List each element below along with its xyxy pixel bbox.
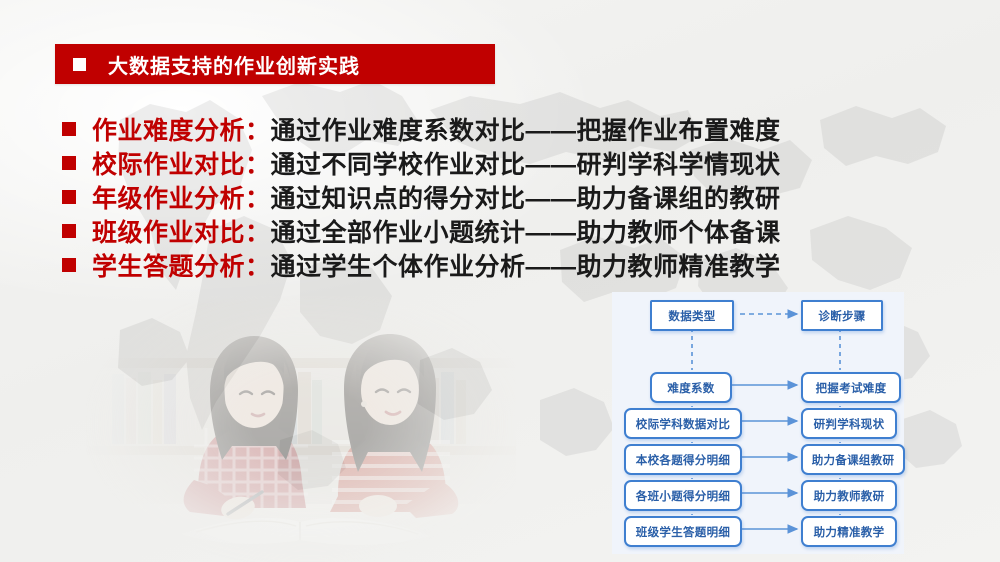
title-square-bullet-icon	[73, 58, 86, 71]
red-square-bullet-icon	[62, 156, 76, 170]
flow-node-header-right[interactable]: 诊断步骤	[801, 300, 883, 331]
students-studying-photo	[86, 296, 516, 562]
bullet-label: 班级作业对比：	[92, 213, 271, 249]
flow-node-right-5[interactable]: 助力精准教学	[801, 516, 897, 547]
list-item: 年级作业分析： 通过知识点的得分对比——助力备课组的教研	[62, 180, 952, 214]
list-item: 作业难度分析： 通过作业难度系数对比——把握作业布置难度	[62, 112, 952, 146]
page-title: 大数据支持的作业创新实践	[108, 50, 360, 79]
bullet-description: 通过知识点的得分对比——助力备课组的教研	[271, 179, 781, 215]
bullet-label: 年级作业分析：	[92, 179, 271, 215]
flow-node-left-2[interactable]: 校际学科数据对比	[624, 408, 742, 439]
bullet-list: 作业难度分析： 通过作业难度系数对比——把握作业布置难度 校际作业对比： 通过不…	[62, 112, 952, 282]
bullet-label: 作业难度分析：	[92, 111, 271, 147]
list-item: 班级作业对比： 通过全部作业小题统计——助力教师个体备课	[62, 214, 952, 248]
flow-node-left-1[interactable]: 难度系数	[650, 372, 732, 403]
bullet-description: 通过作业难度系数对比——把握作业布置难度	[271, 111, 781, 147]
bullet-description: 通过学生个体作业分析——助力教师精准教学	[271, 247, 781, 283]
flow-node-right-4[interactable]: 助力教师教研	[801, 480, 897, 511]
slide-title-banner: 大数据支持的作业创新实践	[55, 44, 495, 84]
list-item: 学生答题分析： 通过学生个体作业分析——助力教师精准教学	[62, 248, 952, 282]
flowchart-panel: 数据类型 诊断步骤 难度系数 把握考试难度 校际学科数据对比 研判学科现状 本校…	[612, 292, 904, 554]
flow-node-header-left[interactable]: 数据类型	[650, 300, 734, 331]
red-square-bullet-icon	[62, 122, 76, 136]
list-item: 校际作业对比： 通过不同学校作业对比——研判学科学情现状	[62, 146, 952, 180]
red-square-bullet-icon	[62, 224, 76, 238]
flow-node-left-4[interactable]: 各班小题得分明细	[624, 480, 742, 511]
flow-node-left-3[interactable]: 本校各题得分明细	[624, 444, 742, 475]
flow-node-right-2[interactable]: 研判学科现状	[801, 408, 897, 439]
bullet-label: 学生答题分析：	[92, 247, 271, 283]
slide-canvas: 大数据支持的作业创新实践 作业难度分析： 通过作业难度系数对比——把握作业布置难…	[0, 0, 1000, 562]
red-square-bullet-icon	[62, 190, 76, 204]
bullet-description: 通过全部作业小题统计——助力教师个体备课	[271, 213, 781, 249]
bullet-description: 通过不同学校作业对比——研判学科学情现状	[271, 145, 781, 181]
red-square-bullet-icon	[62, 258, 76, 272]
bullet-label: 校际作业对比：	[92, 145, 271, 181]
flow-node-right-1[interactable]: 把握考试难度	[801, 372, 901, 403]
flow-node-left-5[interactable]: 班级学生答题明细	[624, 516, 742, 547]
flow-node-right-3[interactable]: 助力备课组教研	[801, 444, 905, 475]
